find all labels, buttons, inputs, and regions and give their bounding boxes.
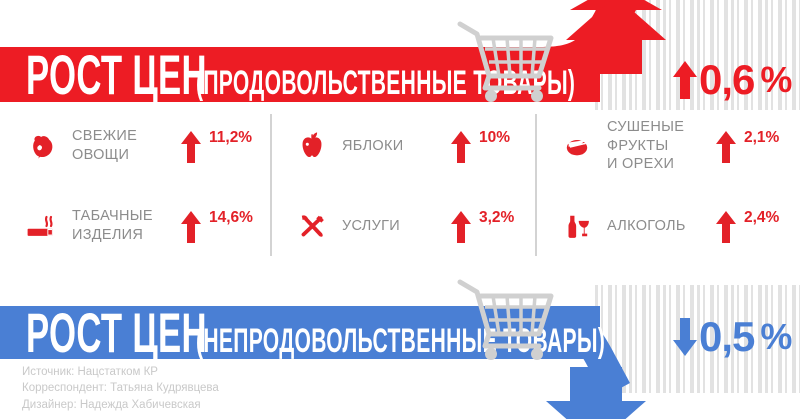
item-fresh-vegetables: СВЕЖИЕОВОЩИ 11,2% bbox=[0, 106, 270, 186]
item-services: УСЛУГИ 3,2% bbox=[270, 186, 535, 266]
item-percentage: 2,1% bbox=[744, 129, 779, 147]
tools-icon bbox=[292, 206, 332, 246]
arrow-up-icon bbox=[450, 130, 472, 164]
credits-block: Источник: Нацстатком КР Корреспондент: Т… bbox=[22, 364, 219, 413]
credits-correspondent: Корреспондент: Татьяна Кудрявцева bbox=[22, 380, 219, 396]
item-tobacco: ТАБАЧНЫЕИЗДЕЛИЯ 14,6% bbox=[0, 186, 270, 266]
item-metric: 2,4% bbox=[715, 208, 779, 244]
food-percentage-value: 0,6 bbox=[699, 56, 754, 104]
arrow-up-icon bbox=[672, 60, 698, 100]
item-percentage: 14,6% bbox=[209, 209, 253, 227]
item-metric: 2,1% bbox=[715, 128, 779, 164]
nonfood-percentage-unit: % bbox=[760, 316, 792, 358]
arrow-up-icon bbox=[715, 130, 737, 164]
shopping-cart-icon-bottom bbox=[455, 276, 565, 361]
item-percentage: 11,2% bbox=[209, 129, 252, 147]
item-percentage: 10% bbox=[479, 129, 510, 147]
arrow-up-icon bbox=[180, 210, 202, 244]
apple-icon bbox=[292, 126, 332, 166]
item-label: ЯБЛОКИ bbox=[342, 137, 446, 156]
item-apples: ЯБЛОКИ 10% bbox=[270, 106, 535, 186]
food-headline-percentage: 0,6 % bbox=[672, 56, 792, 104]
credits-designer: Дизайнер: Надежда Хабичевская bbox=[22, 397, 219, 413]
item-label: ТАБАЧНЫЕИЗДЕЛИЯ bbox=[72, 207, 176, 244]
item-label: УСЛУГИ bbox=[342, 217, 446, 236]
food-percentage-unit: % bbox=[760, 59, 792, 101]
items-column-2: ЯБЛОКИ 10% bbox=[270, 106, 535, 266]
alcohol-icon bbox=[557, 206, 597, 246]
nonfood-percentage-value: 0,5 bbox=[699, 313, 754, 361]
pepper-icon bbox=[22, 126, 62, 166]
item-metric: 14,6% bbox=[180, 208, 253, 244]
nonfood-banner-title: РОСТ ЦЕН bbox=[26, 305, 207, 361]
item-dried-fruits-nuts: СУШЕНЫЕФРУКТЫИ ОРЕХИ 2,1% bbox=[535, 106, 800, 186]
infographic-canvas: РОСТ ЦЕН (ПРОДОВОЛЬСТВЕННЫЕ ТОВАРЫ) 0,6 … bbox=[0, 0, 800, 419]
dried-fruit-icon bbox=[557, 126, 597, 166]
item-label: СУШЕНЫЕФРУКТЫИ ОРЕХИ bbox=[607, 118, 711, 174]
items-column-3: СУШЕНЫЕФРУКТЫИ ОРЕХИ 2,1% АЛ bbox=[535, 106, 800, 266]
item-metric: 10% bbox=[450, 128, 510, 164]
items-grid: СВЕЖИЕОВОЩИ 11,2% bbox=[0, 106, 800, 266]
item-label: СВЕЖИЕОВОЩИ bbox=[72, 127, 176, 164]
item-percentage: 2,4% bbox=[744, 209, 779, 227]
nonfood-headline-percentage: 0,5 % bbox=[672, 313, 792, 361]
items-column-1: СВЕЖИЕОВОЩИ 11,2% bbox=[0, 106, 270, 266]
arrow-up-icon bbox=[715, 210, 737, 244]
arrow-down-icon bbox=[672, 317, 698, 357]
cigarette-icon bbox=[22, 206, 62, 246]
food-banner-title: РОСТ ЦЕН bbox=[26, 47, 207, 103]
item-label: АЛКОГОЛЬ bbox=[607, 217, 711, 236]
shopping-cart-icon-top bbox=[455, 18, 565, 103]
arrow-up-icon bbox=[180, 130, 202, 164]
item-metric: 3,2% bbox=[450, 208, 514, 244]
arrow-up-icon bbox=[450, 210, 472, 244]
credits-source: Источник: Нацстатком КР bbox=[22, 364, 219, 380]
item-alcohol: АЛКОГОЛЬ 2,4% bbox=[535, 186, 800, 266]
item-metric: 11,2% bbox=[180, 128, 252, 164]
item-percentage: 3,2% bbox=[479, 209, 514, 227]
